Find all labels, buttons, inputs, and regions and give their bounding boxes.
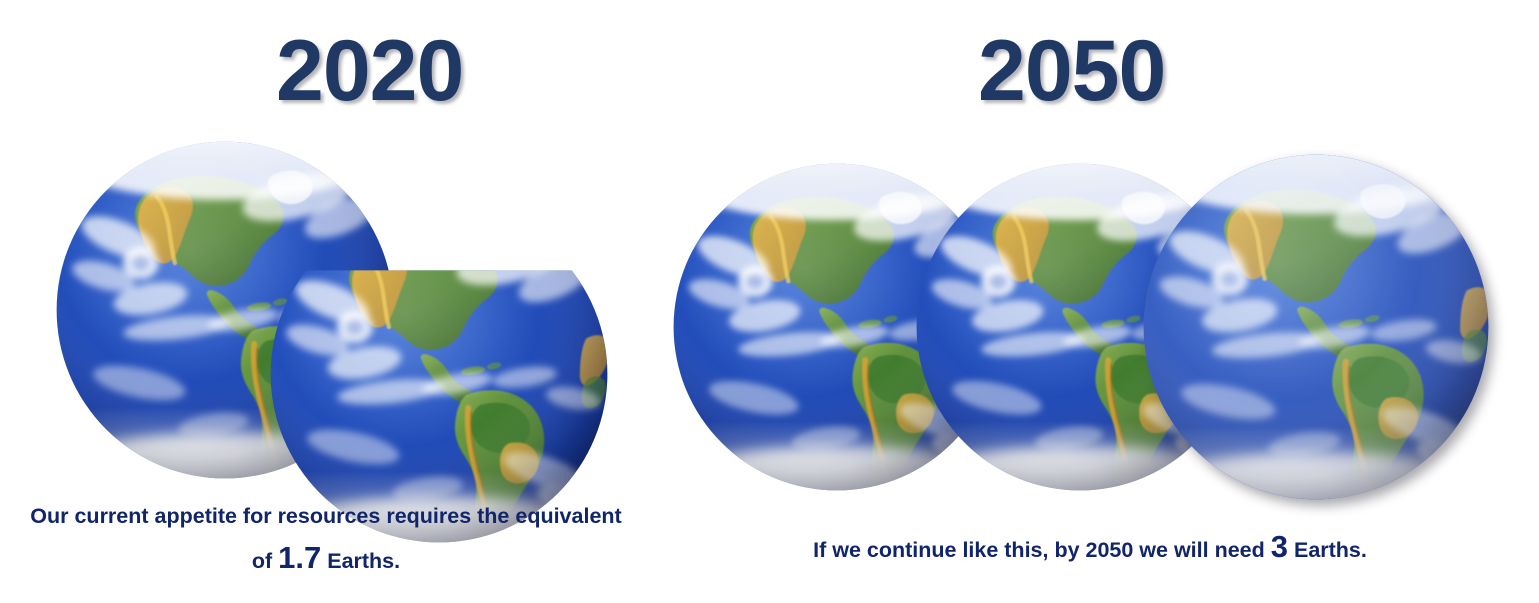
caption-2020: Our current appetite for resources requi… [26,500,626,583]
year-heading-2020: 2020 [276,28,463,114]
earth-globe-2050-third [1142,153,1490,501]
globe-group-2020 [55,140,635,500]
caption-2050: If we continue like this, by 2050 we wil… [700,523,1480,572]
caption-2020-text-after: Earths. [321,549,400,573]
infographic-canvas: 2020 2050 [0,0,1539,603]
caption-2050-value: 3 [1271,529,1288,564]
earth-globe-2020-partial [269,204,609,544]
caption-2050-text-before: If we continue like this, by 2050 we wil… [813,538,1271,562]
caption-2020-value: 1.7 [278,540,321,575]
globe-group-2050 [672,140,1492,505]
year-heading-2050: 2050 [978,28,1165,114]
caption-2050-text-after: Earths. [1288,538,1367,562]
